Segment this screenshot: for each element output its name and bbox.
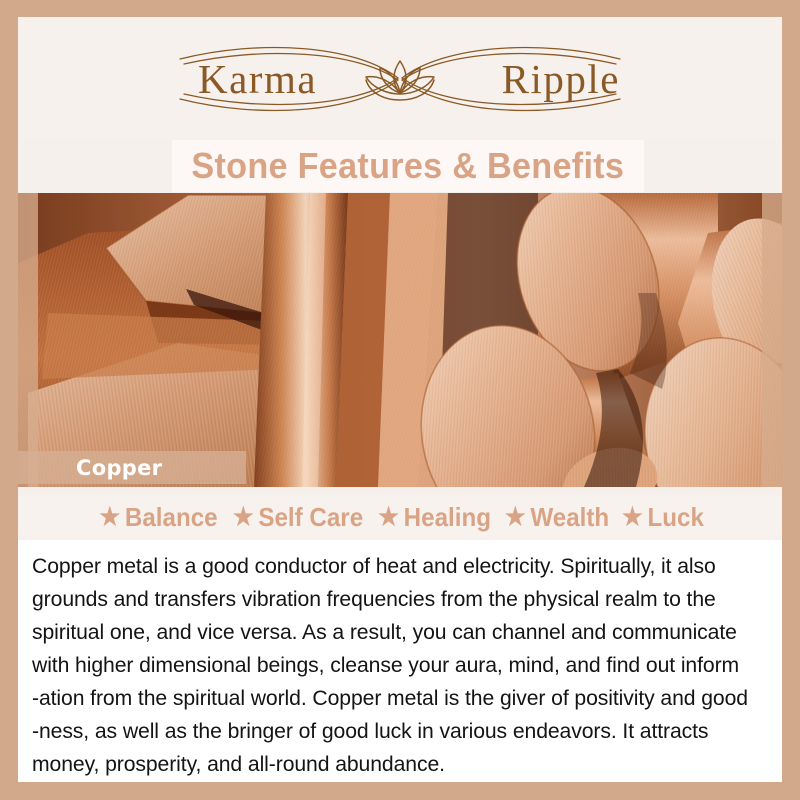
- star-icon: ★: [233, 505, 254, 530]
- star-icon: ★: [505, 505, 526, 530]
- photo-caption-label: Copper: [76, 456, 162, 480]
- benefit-label: Wealth: [531, 502, 610, 533]
- star-icon: ★: [99, 505, 120, 530]
- benefit-label: Balance: [124, 502, 217, 533]
- brand-header: Karma Ripple: [18, 17, 782, 138]
- benefit-label: Healing: [404, 502, 491, 533]
- star-icon: ★: [622, 505, 643, 530]
- benefit-label: Luck: [648, 502, 704, 533]
- page-title: Stone Features & Benefits: [192, 145, 625, 187]
- brand-name-left: Karma: [198, 55, 317, 103]
- poster-inner-page: Karma Ripple Stone Features & Benefits: [18, 17, 782, 782]
- body-line: -ness, as well as the bringer of good lu…: [32, 715, 757, 748]
- brand-logo: Karma Ripple: [140, 33, 660, 125]
- body-description: Copper metal is a good conductor of heat…: [18, 540, 782, 782]
- benefit-item-balance: ★ Balance: [95, 502, 219, 533]
- brand-name-right: Ripple: [502, 55, 620, 103]
- body-line: grounds and transfers vibration frequenc…: [32, 583, 757, 616]
- poster-root: Karma Ripple Stone Features & Benefits: [0, 0, 800, 800]
- body-line: -ation from the spiritual world. Copper …: [32, 682, 757, 715]
- photo-caption-bar: Copper: [18, 451, 246, 484]
- body-line: with higher dimensional beings, cleanse …: [32, 649, 757, 682]
- body-line: money, prosperity, and all-round abundan…: [32, 748, 757, 781]
- star-icon: ★: [378, 505, 399, 530]
- body-line: spiritual one, and vice versa. As a resu…: [32, 616, 757, 649]
- lotus-flower-icon: [366, 61, 434, 100]
- copper-bars-photo: Copper: [18, 193, 782, 487]
- benefit-label: Self Care: [258, 502, 363, 533]
- section-title-box: Stone Features & Benefits: [172, 140, 644, 192]
- benefit-item-luck: ★ Luck: [619, 502, 707, 533]
- copper-bars-illustration: [18, 193, 782, 487]
- benefit-item-wealth: ★ Wealth: [501, 502, 611, 533]
- benefit-item-healing: ★ Healing: [374, 502, 492, 533]
- benefits-row: ★ Balance ★ Self Care ★ Healing ★ Wealth…: [18, 495, 782, 539]
- benefit-item-self-care: ★ Self Care: [229, 502, 365, 533]
- body-line: Copper metal is a good conductor of heat…: [32, 550, 757, 583]
